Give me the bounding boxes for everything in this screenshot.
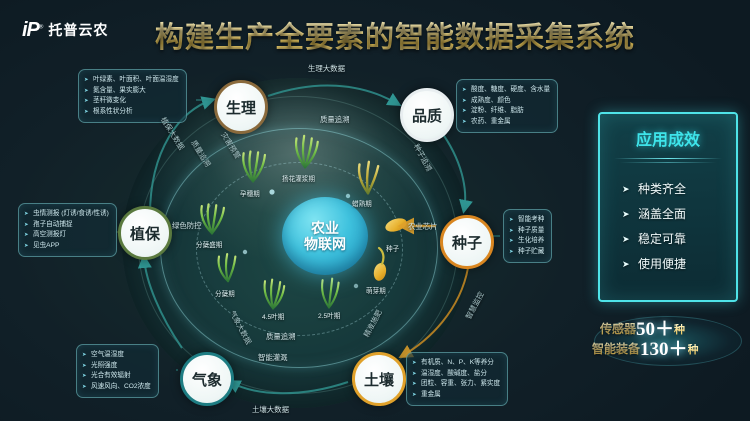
list-item: 温湿度、酸碱度、盐分 bbox=[412, 369, 500, 380]
list-item: 种子贮藏 bbox=[509, 247, 544, 258]
list-item: 有机质、N、P、K等养分 bbox=[412, 358, 500, 369]
list-item: 叶绿素、叶面积、叶面温湿度 bbox=[84, 75, 179, 86]
list-item: 见虫APP bbox=[24, 241, 109, 252]
node-physiology[interactable]: 生理 bbox=[214, 80, 268, 134]
list-item: 氮含量、果实膨大 bbox=[84, 86, 179, 97]
flow-label-soil-bigdata: 土壤大数据 bbox=[252, 404, 289, 415]
node-quality[interactable]: 品质 bbox=[400, 88, 454, 142]
stage-label: 萌芽期 bbox=[366, 285, 386, 295]
stage-label: 蜡熟期 bbox=[352, 198, 372, 208]
page-title: 构建生产全要素的智能数据采集系统 bbox=[150, 14, 640, 56]
list-item: 高空测报灯 bbox=[24, 230, 109, 241]
logo-mark-icon: iP® bbox=[22, 20, 42, 40]
flow-label-quality-trace-top: 质量追溯 bbox=[320, 114, 350, 125]
list-item: 孢子自动捕捉 bbox=[24, 220, 109, 231]
list-item: 农药、重金属 bbox=[462, 117, 550, 128]
stage-label: 分蘖盛期 bbox=[196, 239, 222, 249]
panel-divider bbox=[614, 158, 722, 159]
stage-label: 2.5叶期 bbox=[318, 310, 340, 320]
flow-label-green-control: 绿色防控 bbox=[172, 220, 202, 231]
list-item: 淀粉、纤维、脂肪 bbox=[462, 106, 550, 117]
infobox-seed: 智能考种 种子质量 生化培养 种子贮藏 bbox=[503, 209, 552, 263]
stat-number: 130＋ bbox=[640, 339, 688, 360]
list-item: 空气温湿度 bbox=[82, 350, 151, 361]
brand-logo: iP® 托普云农 bbox=[22, 20, 108, 40]
flow-label-quality-trace-mid: 质量追溯 bbox=[266, 331, 296, 342]
infobox-plant-protection: 虫情测报 (灯诱/食诱/性诱) 孢子自动捕捉 高空测报灯 见虫APP bbox=[18, 203, 117, 257]
list-item: 重金属 bbox=[412, 390, 500, 401]
infobox-quality: 酸度、糖度、硬度、含水量 成熟度、颜色 淀粉、纤维、脂肪 农药、重金属 bbox=[456, 79, 558, 133]
list-item: 光合有效辐射 bbox=[82, 371, 151, 382]
list-item: 团粒、容重、张力、紧实度 bbox=[412, 379, 500, 390]
node-soil[interactable]: 土壤 bbox=[352, 352, 406, 406]
flow-label-agri-chip: 农业芯片 bbox=[408, 221, 438, 232]
stage-label: 扬花灌浆期 bbox=[282, 173, 315, 183]
panel-title: 应用成效 bbox=[600, 114, 736, 156]
panel-divider-secondary bbox=[620, 162, 716, 163]
list-item: 光照强度 bbox=[82, 361, 151, 372]
application-results-panel: 应用成效 种类齐全 涵盖全面 稳定可靠 使用便捷 bbox=[598, 112, 738, 302]
panel-list-item: 种类齐全 bbox=[622, 177, 736, 202]
infographic-canvas: iP® 托普云农 构建生产全要素的智能数据采集系统 bbox=[0, 0, 750, 421]
core-label-line2: 物联网 bbox=[304, 236, 346, 252]
list-item: 智能考种 bbox=[509, 215, 544, 226]
list-item: 风速风向、CO2浓度 bbox=[82, 382, 151, 393]
stage-label: 孕穗期 bbox=[240, 188, 260, 198]
stat-label: 智能装备 bbox=[592, 342, 640, 356]
panel-list-item: 涵盖全面 bbox=[622, 202, 736, 227]
list-item: 虫情测报 (灯诱/食诱/性诱) bbox=[24, 209, 109, 220]
stage-label: 种子 bbox=[386, 243, 399, 253]
infobox-soil: 有机质、N、P、K等养分 温湿度、酸碱度、盐分 团粒、容重、张力、紧实度 重金属 bbox=[406, 352, 508, 406]
stat-smart-equipment: 智能装备130＋种 bbox=[592, 334, 699, 361]
flow-label-smart-monitoring: 智慧监控 bbox=[463, 290, 487, 321]
flow-label-physiology-bigdata: 生理大数据 bbox=[308, 63, 345, 74]
header: iP® 托普云农 构建生产全要素的智能数据采集系统 bbox=[0, 0, 750, 62]
list-item: 茎秆微变化 bbox=[84, 96, 179, 107]
node-weather[interactable]: 气象 bbox=[180, 352, 234, 406]
list-item: 生化培养 bbox=[509, 236, 544, 247]
infobox-weather: 空气温湿度 光照强度 光合有效辐射 风速风向、CO2浓度 bbox=[76, 344, 159, 398]
node-plant-protection[interactable]: 植保 bbox=[118, 206, 172, 260]
core-agriculture-iot: 农业物联网 bbox=[282, 197, 368, 275]
core-label-line1: 农业 bbox=[311, 220, 339, 236]
flow-label-smart-irrigation: 智能灌溉 bbox=[258, 352, 288, 363]
list-item: 酸度、糖度、硬度、含水量 bbox=[462, 85, 550, 96]
node-seed[interactable]: 种子 bbox=[440, 215, 494, 269]
panel-list-item: 稳定可靠 bbox=[622, 227, 736, 252]
stage-label: 4.5叶期 bbox=[262, 311, 284, 321]
stat-unit: 种 bbox=[688, 344, 699, 356]
infobox-physiology: 叶绿素、叶面积、叶面温湿度 氮含量、果实膨大 茎秆微变化 根系性状分析 bbox=[78, 69, 187, 123]
panel-list-item: 使用便捷 bbox=[622, 252, 736, 277]
brand-name: 托普云农 bbox=[48, 20, 108, 40]
stage-label: 分蘖期 bbox=[215, 288, 235, 298]
list-item: 成熟度、颜色 bbox=[462, 96, 550, 107]
registered-mark-icon: ® bbox=[39, 24, 42, 30]
list-item: 种子质量 bbox=[509, 226, 544, 237]
